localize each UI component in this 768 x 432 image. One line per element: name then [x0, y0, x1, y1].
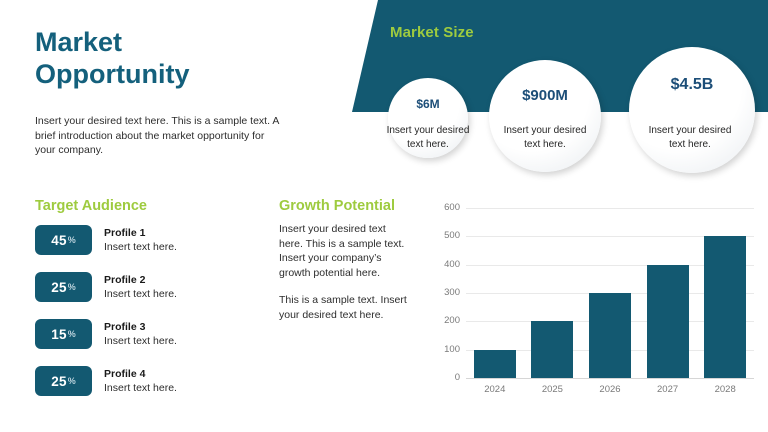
profile-name: Profile 3 [104, 321, 177, 334]
percent-value: 25 [51, 280, 66, 295]
market-size-value-3: $4.5B [671, 76, 714, 94]
chart-y-tick-label: 500 [434, 230, 460, 241]
profile-description: Insert text here. [104, 240, 177, 254]
chart-y-tick-label: 200 [434, 315, 460, 326]
chart-x-tick-label: 2024 [469, 384, 521, 395]
chart-plot-area: 6005004003002001000 [466, 208, 754, 378]
growth-bar-chart: 6005004003002001000 20242025202620272028 [434, 198, 756, 403]
chart-x-tick-label: 2026 [584, 384, 636, 395]
profile-row: 45 % Profile 1 Insert text here. [35, 225, 177, 255]
chart-bar-wrapper [699, 208, 751, 378]
percent-badge: 15 % [35, 319, 92, 349]
profile-description: Insert text here. [104, 334, 177, 348]
chart-bar-wrapper [642, 208, 694, 378]
growth-potential-body: Insert your desired text here. This is a… [279, 222, 409, 335]
chart-bar-wrapper [469, 208, 521, 378]
profile-description: Insert text here. [104, 287, 177, 301]
chart-x-axis: 20242025202620272028 [466, 384, 754, 395]
percent-symbol: % [68, 235, 76, 245]
profile-text: Profile 2 Insert text here. [104, 274, 177, 301]
market-size-caption-1: Insert your desired text here. [378, 124, 478, 151]
market-size-caption-3: Insert your desired text here. [640, 124, 740, 151]
chart-y-tick-label: 300 [434, 287, 460, 298]
growth-potential-heading: Growth Potential [279, 198, 395, 214]
percent-value: 15 [51, 327, 66, 342]
profile-row: 15 % Profile 3 Insert text here. [35, 319, 177, 349]
percent-value: 45 [51, 233, 66, 248]
percent-symbol: % [68, 282, 76, 292]
chart-bar [647, 265, 689, 378]
profile-text: Profile 3 Insert text here. [104, 321, 177, 348]
profile-row: 25 % Profile 2 Insert text here. [35, 272, 177, 302]
profile-name: Profile 4 [104, 368, 177, 381]
intro-paragraph: Insert your desired text here. This is a… [35, 114, 287, 158]
market-size-circle-3: $4.5B [629, 47, 755, 173]
growth-potential-paragraph-1: Insert your desired text here. This is a… [279, 222, 409, 280]
market-size-caption-2: Insert your desired text here. [495, 124, 595, 151]
profile-description: Insert text here. [104, 381, 177, 395]
chart-bar-wrapper [526, 208, 578, 378]
market-size-value-2: $900M [522, 87, 568, 104]
market-size-value-1: $6M [416, 97, 439, 111]
page-title-line-2: Opportunity [35, 58, 189, 90]
chart-x-tick-label: 2027 [642, 384, 694, 395]
chart-bar [704, 236, 746, 378]
page-title: Market Opportunity [35, 26, 189, 90]
profile-name: Profile 2 [104, 274, 177, 287]
chart-bar [474, 350, 516, 378]
percent-badge: 25 % [35, 366, 92, 396]
growth-potential-paragraph-2: This is a sample text. Insert your desir… [279, 293, 409, 322]
chart-y-tick-label: 600 [434, 202, 460, 213]
target-audience-heading: Target Audience [35, 198, 147, 214]
percent-badge: 25 % [35, 272, 92, 302]
chart-y-tick-label: 100 [434, 344, 460, 355]
chart-baseline [466, 378, 754, 379]
market-size-circle-2: $900M [489, 60, 601, 172]
chart-x-tick-label: 2025 [526, 384, 578, 395]
percent-symbol: % [68, 329, 76, 339]
chart-bar [589, 293, 631, 378]
chart-bar [531, 321, 573, 378]
profile-row: 25 % Profile 4 Insert text here. [35, 366, 177, 396]
market-size-heading: Market Size [390, 24, 474, 41]
page-title-line-1: Market [35, 26, 189, 58]
percent-value: 25 [51, 374, 66, 389]
chart-y-tick-label: 0 [434, 372, 460, 383]
slide-canvas: Market Size Market Opportunity Insert yo… [0, 0, 768, 432]
chart-bars [466, 208, 754, 378]
profile-text: Profile 4 Insert text here. [104, 368, 177, 395]
profile-name: Profile 1 [104, 227, 177, 240]
percent-symbol: % [68, 376, 76, 386]
profile-text: Profile 1 Insert text here. [104, 227, 177, 254]
chart-x-tick-label: 2028 [699, 384, 751, 395]
chart-bar-wrapper [584, 208, 636, 378]
percent-badge: 45 % [35, 225, 92, 255]
chart-y-tick-label: 400 [434, 259, 460, 270]
